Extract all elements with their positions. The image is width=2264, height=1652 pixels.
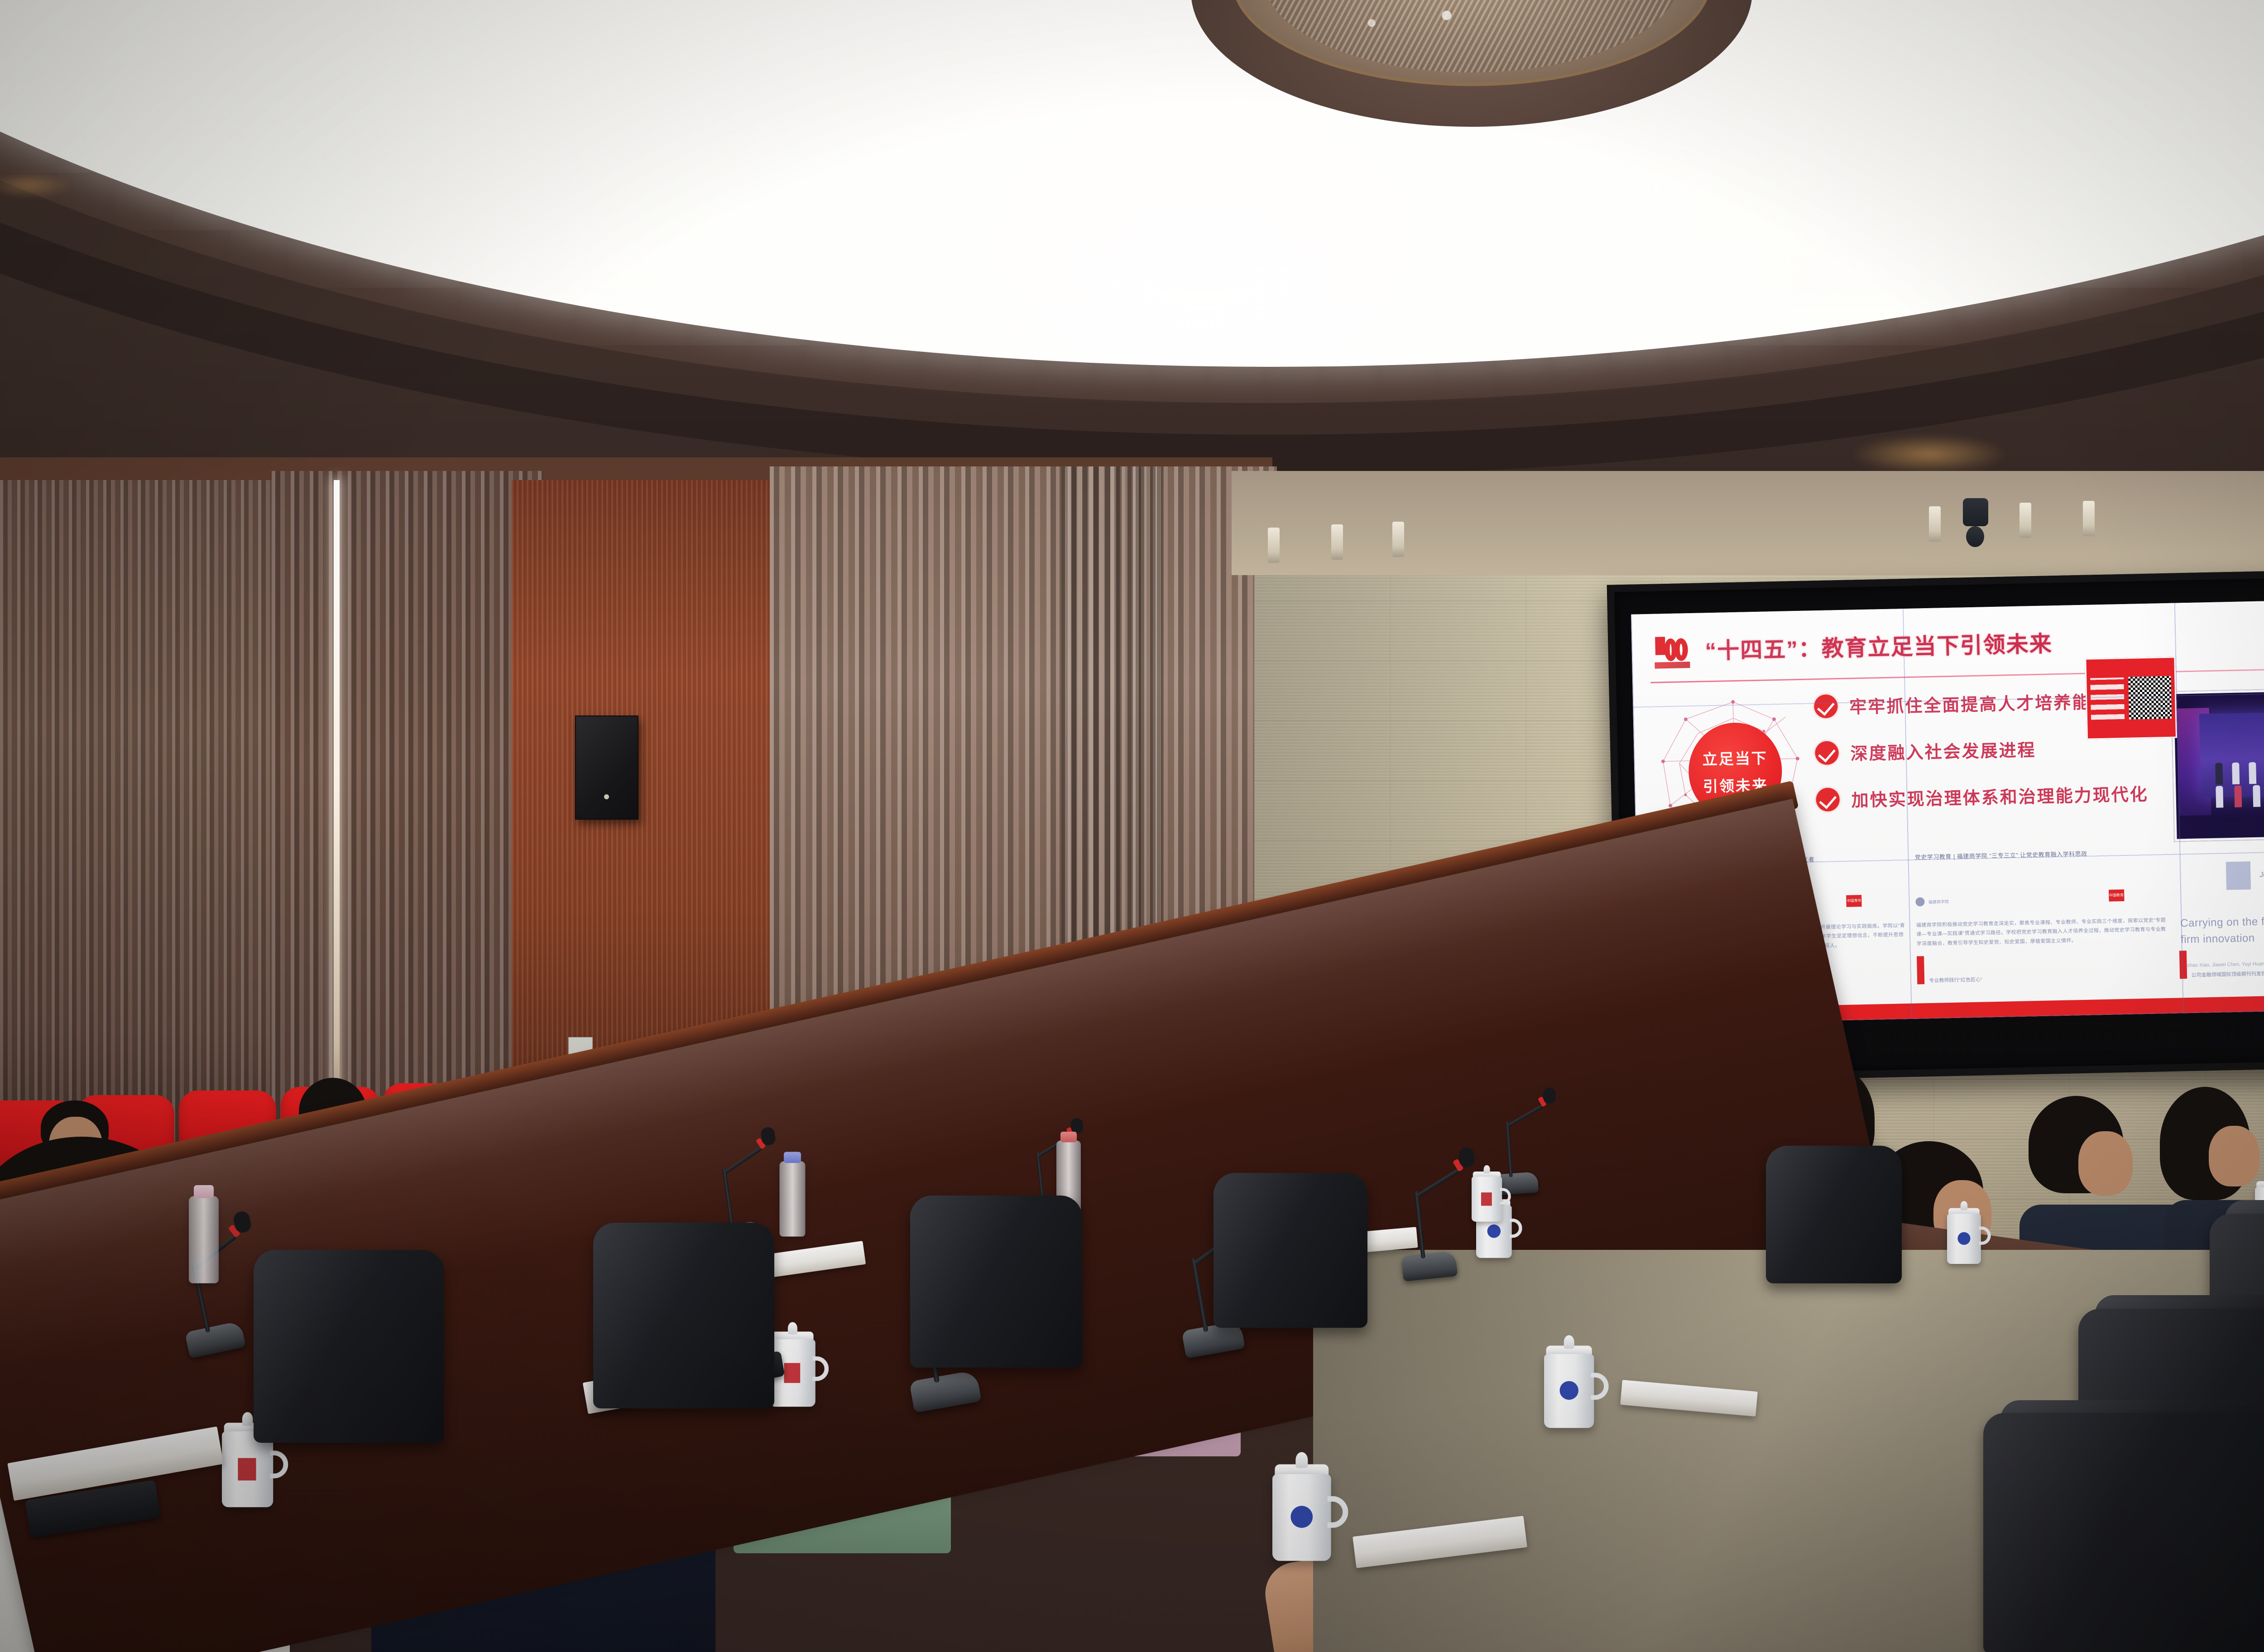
card-caption: 专业教师践行“红色匠心” bbox=[1929, 976, 1982, 984]
stage-people-row-front bbox=[2216, 782, 2264, 807]
journal-cover-icon bbox=[2226, 861, 2250, 890]
ceiling-spotlight bbox=[1966, 526, 1984, 547]
conference-room-scene: “十四五”：教育立足当下引领未来 bbox=[0, 0, 2264, 1652]
journal-paper-meta: Yuchao Xiao, Jiawei Chen, Yuyi Huang, We… bbox=[2181, 955, 2264, 972]
window-light-slit bbox=[334, 480, 340, 1168]
chair-back bbox=[254, 1250, 444, 1443]
chair-back bbox=[1983, 1413, 2264, 1652]
executive-chair[interactable] bbox=[1983, 1413, 2264, 1652]
check-circle-icon bbox=[1815, 741, 1839, 765]
chair-back bbox=[1214, 1173, 1367, 1328]
slide-bullet-text: 深度融入社会发展进程 bbox=[1850, 736, 2036, 765]
mic-capsule bbox=[1543, 1087, 1556, 1104]
stage-people-row-back bbox=[2215, 759, 2264, 784]
slide-card-news-2: 党史学习教育 | 福建商学院 “三专三立” 让党史教育融入学科思政 福建商学院 … bbox=[1915, 848, 2172, 996]
qr-code-promo-block bbox=[2085, 657, 2177, 740]
teacup-lid-knob bbox=[788, 1322, 797, 1335]
check-circle-icon bbox=[1816, 788, 1840, 812]
card-headline: 党史学习教育 | 福建商学院 “三专三立” 让党史教育融入学科思政 bbox=[1915, 848, 2169, 862]
teacup-seal-mark-icon bbox=[1481, 1192, 1492, 1205]
ceiling-stain bbox=[1852, 435, 2006, 474]
chair-back bbox=[1766, 1146, 1902, 1283]
check-circle-icon bbox=[1814, 694, 1838, 718]
bottle-cap bbox=[784, 1152, 801, 1163]
bottle-cap bbox=[1060, 1132, 1077, 1142]
stage-backdrop bbox=[2199, 710, 2264, 798]
person-head bbox=[2078, 1131, 2133, 1196]
card-source-name: 福建商学院 bbox=[1928, 898, 1949, 905]
card-red-marker bbox=[2179, 951, 2187, 979]
curtain-panel-left bbox=[0, 480, 312, 1186]
card-tag-badge: 中国教育 bbox=[2109, 889, 2125, 902]
logo-flag-icon bbox=[1655, 637, 1665, 655]
ceiling-fixture bbox=[1331, 524, 1343, 560]
slide-stage-group-photo bbox=[2172, 687, 2264, 841]
teacup-logo-icon bbox=[1957, 1232, 1970, 1245]
person-head bbox=[2209, 1126, 2259, 1186]
teacup-lid-knob bbox=[1961, 1201, 1968, 1210]
chair-back bbox=[910, 1196, 1082, 1368]
executive-chair[interactable] bbox=[910, 1196, 1082, 1422]
card-source: 福建商学院 bbox=[1916, 897, 1949, 907]
slide-title: “十四五”：教育立足当下引领未来 bbox=[1705, 626, 2053, 665]
teacup-logo-icon bbox=[1291, 1506, 1313, 1528]
teacup-lid-knob bbox=[242, 1412, 253, 1426]
slide-bullet-text: 加快实现治理体系和治理能力现代化 bbox=[1851, 780, 2149, 812]
journal-header: Journal of Corporate Finance bbox=[2177, 842, 2264, 907]
teacup-logo-icon bbox=[1487, 1225, 1501, 1238]
speaker-led-icon bbox=[604, 794, 609, 799]
water-bottle[interactable] bbox=[189, 1196, 219, 1283]
journal-name: Journal of Corporate Finance bbox=[2259, 869, 2264, 879]
logo-zero-icon bbox=[1674, 638, 1688, 661]
wordmark-icon bbox=[2090, 677, 2125, 720]
slide-card-journal: Journal of Corporate Finance Carrying on… bbox=[2177, 842, 2264, 991]
upper-wall-band bbox=[1232, 471, 2264, 575]
wall-speaker bbox=[575, 716, 638, 820]
executive-chair[interactable] bbox=[1766, 1146, 1902, 1327]
card-tag-badge: 中国青年 bbox=[1846, 895, 1862, 907]
teacup-seal-mark-icon bbox=[784, 1363, 801, 1383]
executive-chair[interactable] bbox=[593, 1223, 774, 1467]
slide-bullet-item: 加快实现治理体系和治理能力现代化 bbox=[1816, 779, 2190, 812]
ceiling-fixture bbox=[1929, 506, 1941, 542]
ceiling-camera-mount bbox=[1963, 498, 1988, 526]
teacup-logo-icon bbox=[1560, 1381, 1578, 1400]
ceiling-fixture bbox=[1268, 528, 1280, 563]
executive-chair[interactable] bbox=[254, 1250, 444, 1503]
logo-base-icon bbox=[1655, 662, 1690, 669]
bottle-cap bbox=[194, 1185, 214, 1198]
teacup-lid-knob bbox=[1295, 1452, 1308, 1468]
journal-paper-title: Carrying on the family's legacy: Male he… bbox=[2180, 910, 2264, 948]
source-avatar-icon bbox=[1916, 897, 1925, 906]
chair-back bbox=[593, 1223, 774, 1408]
card-body-text: 福建商学院积极推动党史学习教育走深走实，聚焦专业课程、专业教师、专业实践三个维度… bbox=[1916, 916, 2171, 949]
cpc-100-anniversary-logo-icon bbox=[1652, 630, 1692, 670]
teacup-lid-knob bbox=[1564, 1335, 1574, 1349]
teacup-lid-knob bbox=[1484, 1165, 1490, 1173]
card-red-marker bbox=[1917, 956, 1924, 984]
qr-code-icon bbox=[2128, 676, 2172, 720]
ceiling-fixture bbox=[2019, 503, 2031, 538]
executive-chair[interactable] bbox=[1214, 1173, 1367, 1377]
ceiling-fixture bbox=[2083, 501, 2095, 536]
water-bottle[interactable] bbox=[780, 1161, 806, 1236]
badge-line-1: 立足当下 bbox=[1702, 746, 1768, 769]
journal-caption: 公司金融领域国际顶级期刊刊发我校教师论文 bbox=[2191, 969, 2264, 979]
ceiling-fixture bbox=[1392, 522, 1404, 557]
